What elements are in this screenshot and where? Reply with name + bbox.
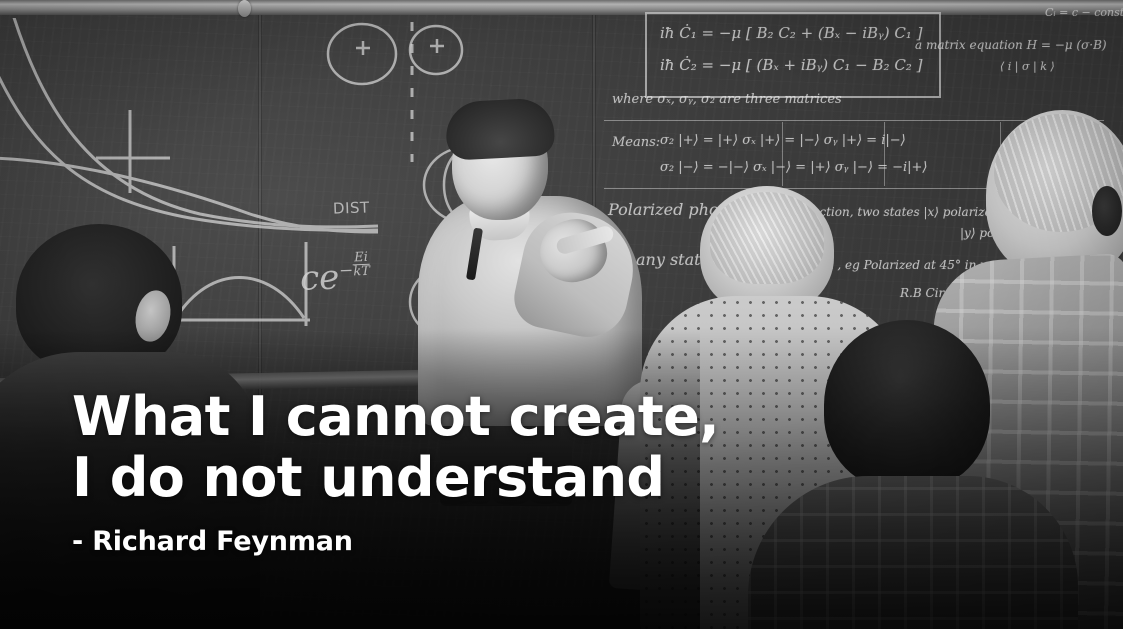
student-center-plaid-shirt xyxy=(748,476,1078,629)
rail-clip xyxy=(238,0,251,17)
quote-line-2: I do not understand xyxy=(72,447,772,508)
chalk-rule-col-2 xyxy=(884,122,885,186)
chalk-line-where: where σₓ, σᵧ, σ₂ are three matrices xyxy=(612,92,842,107)
student-right-ear xyxy=(1092,186,1122,236)
chalk-means-label: Means: xyxy=(612,135,660,150)
chalk-means-row-2: σ₂ |−⟩ = −|−⟩ σₓ |−⟩ = |+⟩ σᵧ |−⟩ = −i|+… xyxy=(660,160,927,175)
chalk-dashed-divider xyxy=(404,22,420,162)
chalk-note-matrix-equation: a matrix equation H = −μ (σ·B) xyxy=(915,38,1107,52)
quote-line-1: What I cannot create, xyxy=(72,386,772,447)
chalk-equation-2: iħ Ċ₂ = −μ [ (Bₓ + iBᵧ) C₁ − B₂ C₂ ] xyxy=(660,56,922,74)
chalk-polarized-note: direction, two states |x⟩ polarized xyxy=(795,205,999,219)
chalk-note-top-right: Cᵢ = c − const xyxy=(1045,6,1123,19)
chalk-any-state-label: any state xyxy=(636,250,710,269)
student-polka-dot-hair xyxy=(700,186,834,314)
chalk-label-dist: DIST xyxy=(333,198,370,217)
chalk-minus-sign: − xyxy=(339,261,354,281)
chalk-rule-col-1 xyxy=(782,122,783,186)
quote-attribution: - Richard Feynman xyxy=(72,526,772,557)
student-center-head xyxy=(824,320,990,490)
quote-block: What I cannot create, I do not understan… xyxy=(72,386,772,557)
chalk-boltzmann-factor: ce−EikT xyxy=(299,251,371,299)
chalk-atom-diagram-top xyxy=(318,22,478,92)
chalk-exponent-fraction: EikT xyxy=(353,251,371,279)
lecturer-hair xyxy=(445,97,556,161)
chalk-note-expectation: ⟨ i | σ | k ⟩ xyxy=(1000,60,1055,73)
quote-card: DIST ce−EikT iħ Ċ₁ = −μ [ B₂ C₂ + (Bₓ − … xyxy=(0,0,1123,629)
blackboard-top-rail xyxy=(0,0,1123,15)
chalk-equation-1: iħ Ċ₁ = −μ [ B₂ C₂ + (Bₓ − iBᵧ) C₁ ] xyxy=(660,24,922,42)
chalk-potential-well xyxy=(160,234,320,344)
